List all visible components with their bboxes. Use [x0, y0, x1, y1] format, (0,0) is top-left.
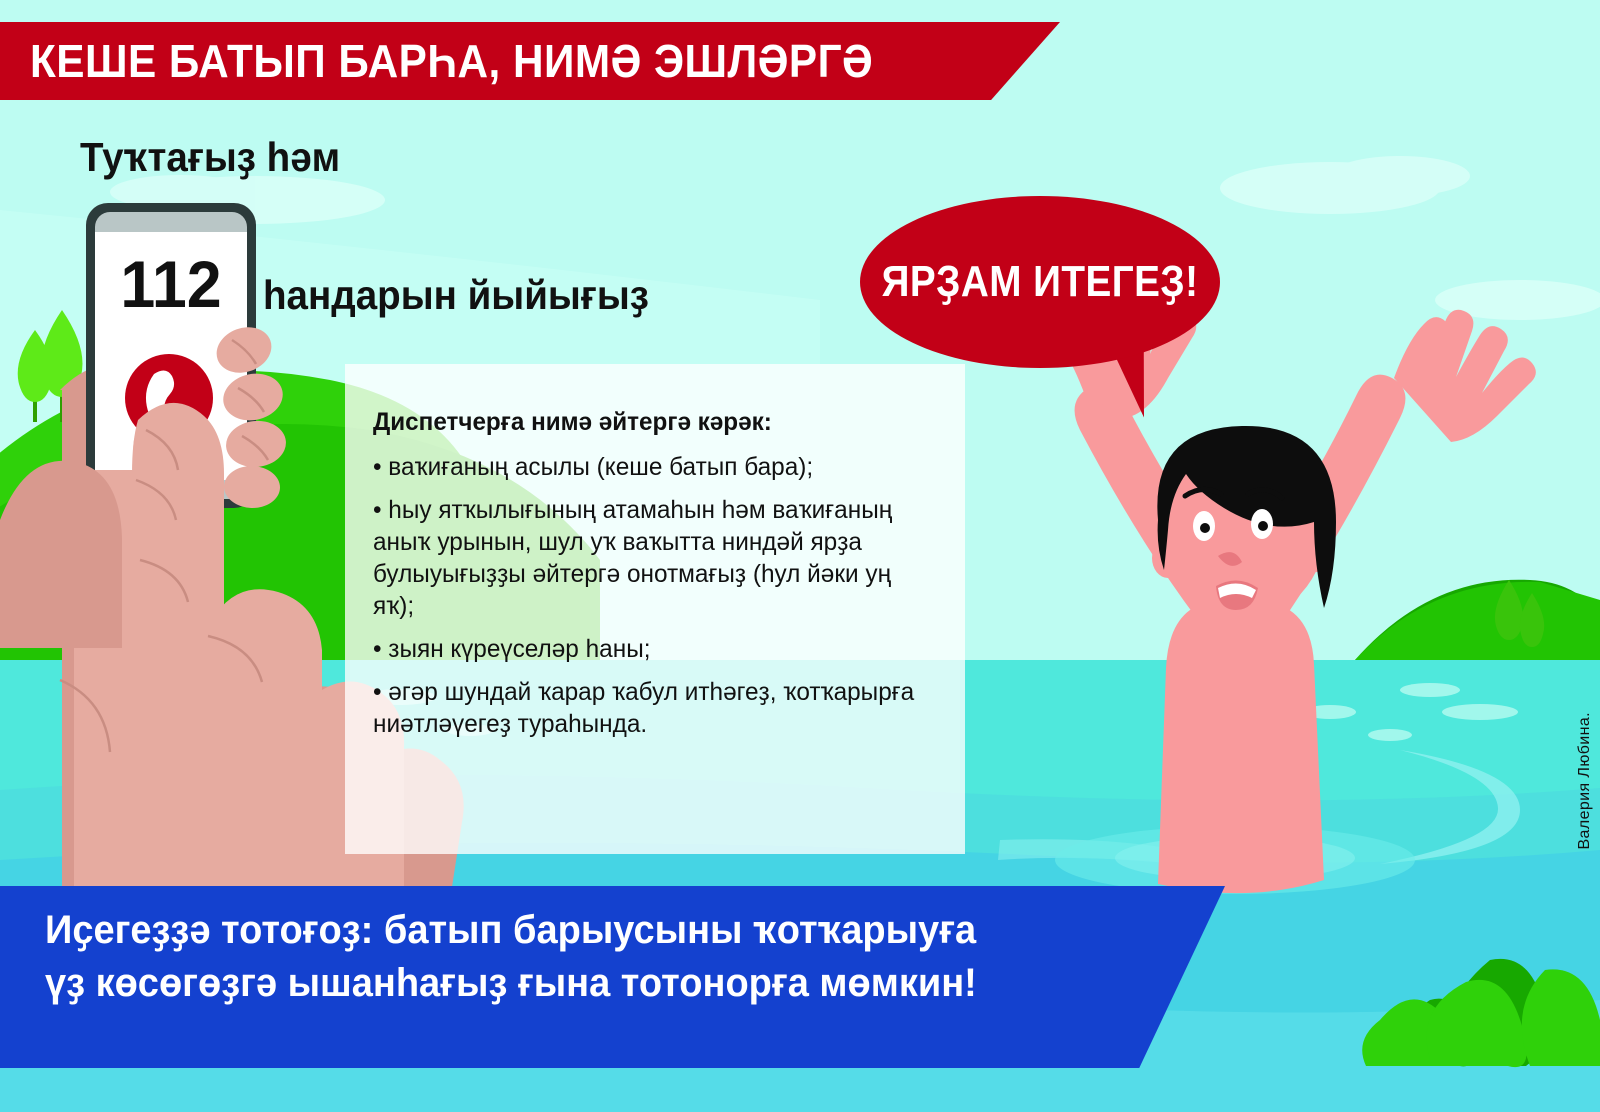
info-list-item: • һыу ятҡылығының атамаһын һәм ваҡиғаның… [373, 494, 935, 622]
title-banner: КЕШЕ БАТЫП БАРҺА, НИМӘ ЭШЛӘРГӘ [0, 22, 1060, 100]
swimmer-ear-left [1152, 538, 1184, 578]
swimmer-torso [1158, 595, 1324, 893]
headline-line-2: һандарын йыйығыҙ [263, 272, 649, 319]
bottom-banner-line-1: Иҫегеҙҙә тотоғоҙ: батып барыусыны ҡотҡар… [45, 904, 1128, 957]
page-title: КЕШЕ БАТЫП БАРҺА, НИМӘ ЭШЛӘРГӘ [30, 34, 873, 88]
photo-credit: Валерия Любина. [1576, 712, 1594, 850]
info-panel: Диспетчерға нимә әйтергә кәрәк: • ваҡиға… [345, 364, 965, 854]
emergency-number: 112 [100, 246, 243, 322]
swimmer-right-hand [1394, 310, 1536, 442]
infographic-poster: КЕШЕ БАТЫП БАРҺА, НИМӘ ЭШЛӘРГӘ Туҡтағыҙ … [0, 0, 1600, 1112]
bottom-banner-line-2: үҙ көсөгөҙгә ышанһағыҙ ғына тотонорға мө… [45, 957, 1128, 1010]
info-list-item: • әгәр шундай ҡарар ҡабул итһәгеҙ, ҡотҡа… [373, 676, 935, 740]
headline-line-1: Туҡтағыҙ һәм [80, 134, 340, 181]
swimmer-pupil-right [1258, 521, 1268, 531]
info-panel-heading: Диспетчерға нимә әйтергә кәрәк: [373, 408, 932, 437]
info-list-item: • зыян күреүселәр һаны; [373, 633, 935, 665]
swimmer-pupil-left [1200, 523, 1210, 533]
speech-bubble: ЯРҘАМ ИТЕГЕҘ! [860, 196, 1220, 386]
bottom-banner-text: Иҫегеҙҙә тотоғоҙ: батып барыусыны ҡотҡар… [45, 904, 1128, 1010]
info-panel-content: Диспетчерға нимә әйтергә кәрәк: • ваҡиға… [373, 408, 949, 751]
info-list-item: • ваҡиғаның асылы (кеше батып бара); [373, 451, 935, 483]
bottom-banner: Иҫегеҙҙә тотоғоҙ: батып барыусыны ҡотҡар… [0, 886, 1225, 1068]
speech-bubble-text: ЯРҘАМ ИТЕГЕҘ! [882, 196, 1199, 368]
